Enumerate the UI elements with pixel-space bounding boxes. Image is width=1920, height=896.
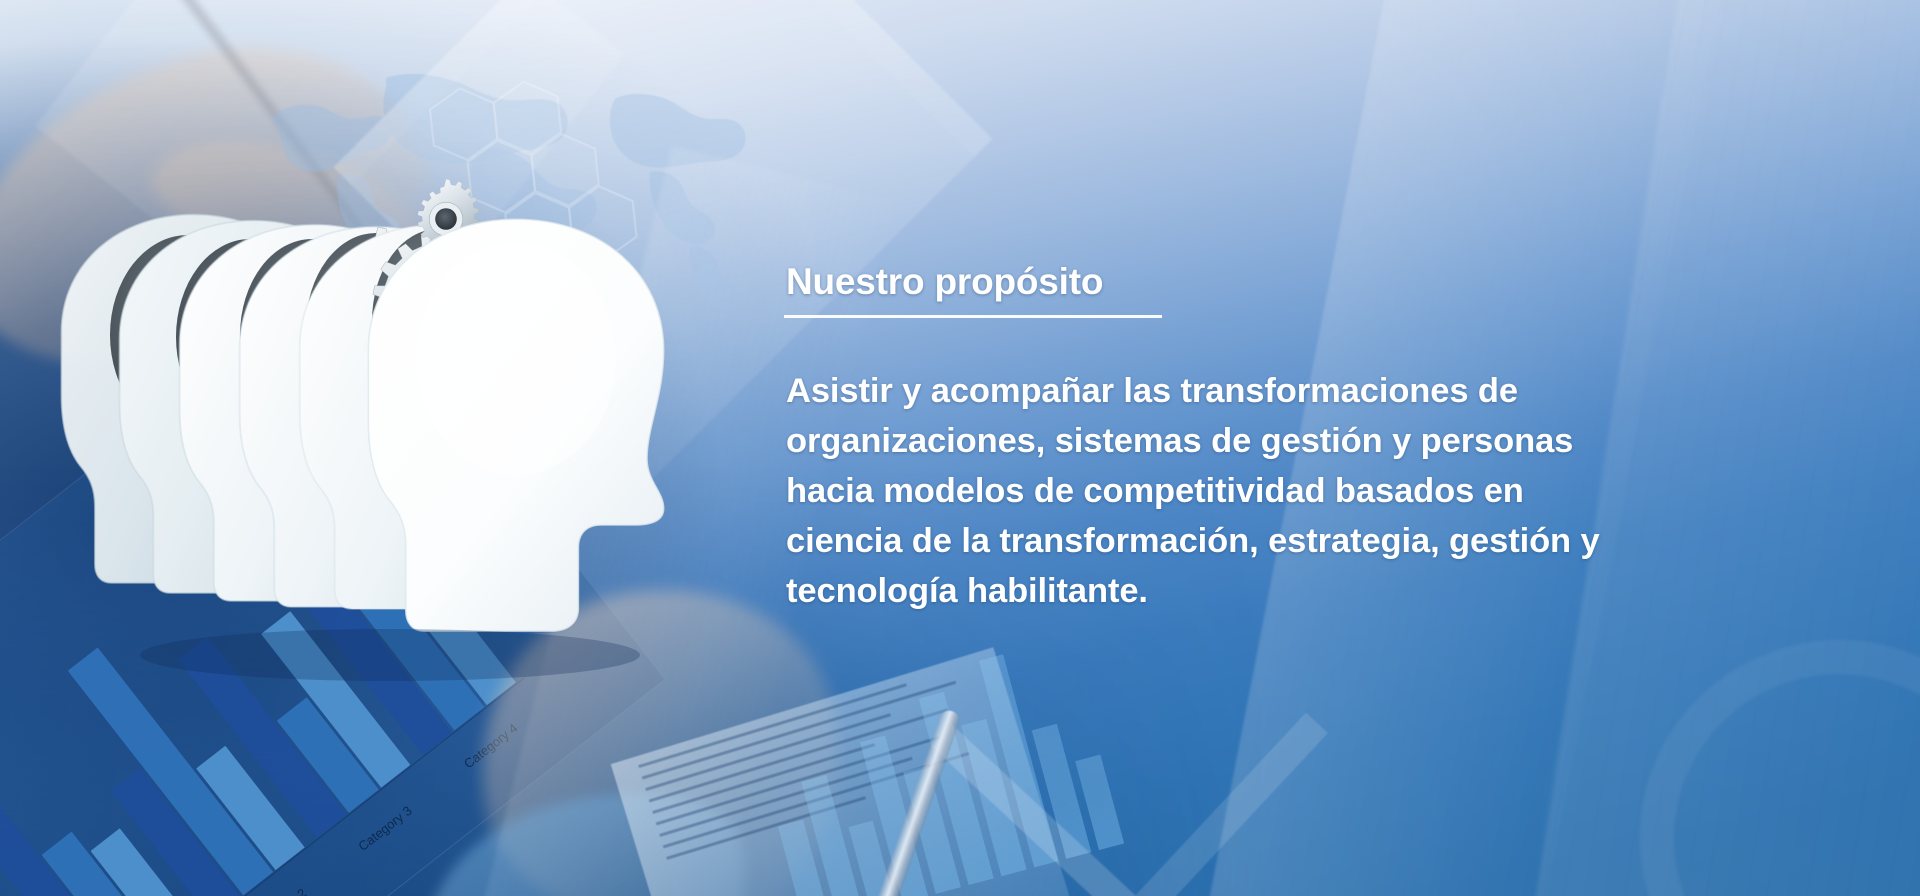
illustration-shadow — [140, 629, 640, 681]
body-line: hacia modelos de competitividad basados … — [786, 466, 1806, 516]
head-profile-front — [368, 219, 663, 631]
circle-graphic-right — [1640, 640, 1920, 896]
text-panel: Nuestro propósito Asistir y acompañar la… — [786, 262, 1846, 616]
page-title: Nuestro propósito — [786, 262, 1846, 302]
body-line: tecnología habilitante. — [786, 566, 1806, 616]
purpose-statement: Asistir y acompañar las transformaciones… — [786, 366, 1806, 616]
profile-heads-with-gears-illustration — [60, 185, 700, 685]
body-line: ciencia de la transformación, estrategia… — [786, 516, 1806, 566]
title-underline — [784, 315, 1162, 318]
purpose-banner: Category 1 Category 2 Category 3 Categor… — [0, 0, 1920, 896]
body-line: Asistir y acompañar las transformaciones… — [786, 366, 1806, 416]
body-line: organizaciones, sistemas de gestión y pe… — [786, 416, 1806, 466]
